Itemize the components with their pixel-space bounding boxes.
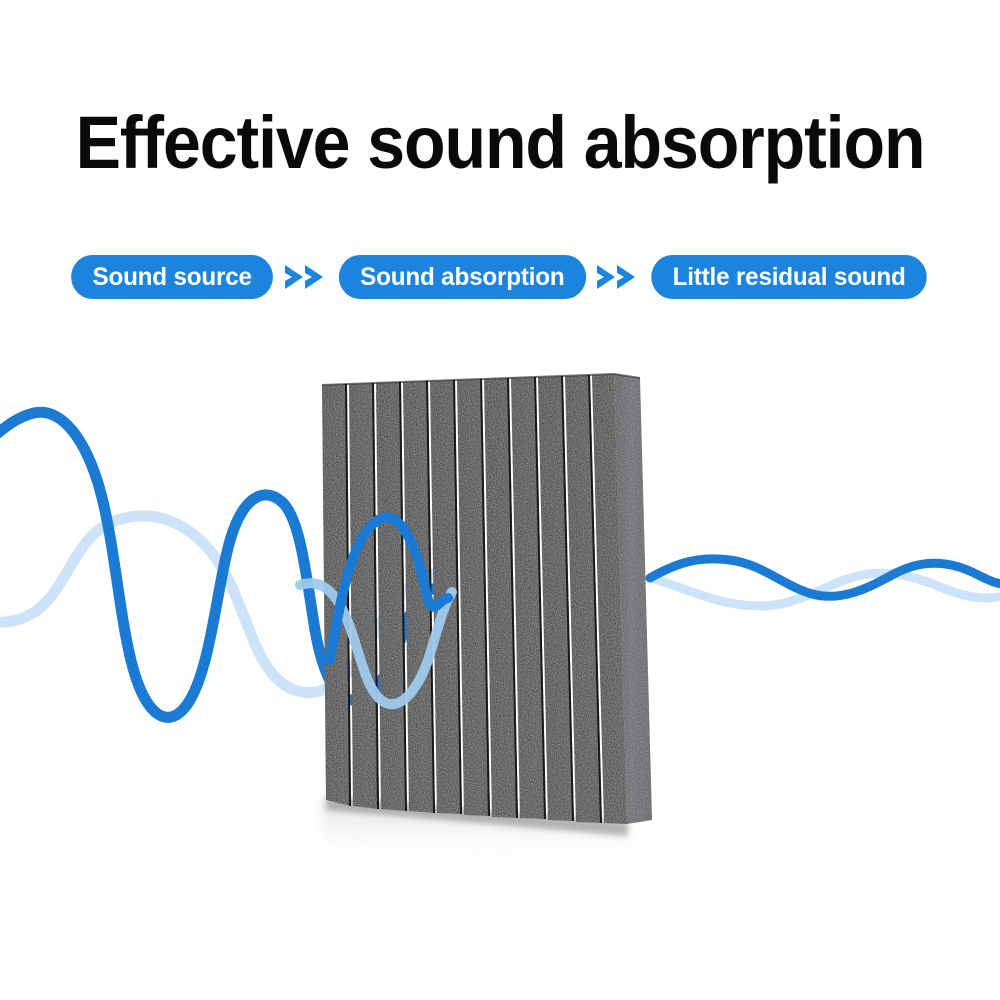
flow-step-little-residual-sound[interactable]: Little residual sound xyxy=(652,255,928,299)
page-title: Effective sound absorption xyxy=(40,104,960,182)
right-wave-group xyxy=(650,559,1000,606)
double-chevron-right-icon xyxy=(277,255,335,299)
flow-step-label: Sound absorption xyxy=(360,255,564,299)
flow-step-sound-absorption[interactable]: Sound absorption xyxy=(338,255,585,299)
promo-image: Effective sound absorption Sound source … xyxy=(0,0,1000,1000)
flow-step-label: Little residual sound xyxy=(673,255,906,299)
flow-step-label: Sound source xyxy=(93,255,252,299)
pale-wave-right xyxy=(652,573,1000,606)
absorbed-wave-group xyxy=(300,517,452,704)
process-flow: Sound source Sound absorption Little res… xyxy=(0,252,1000,302)
flow-step-sound-source[interactable]: Sound source xyxy=(71,255,273,299)
double-chevron-right-icon xyxy=(589,255,647,299)
